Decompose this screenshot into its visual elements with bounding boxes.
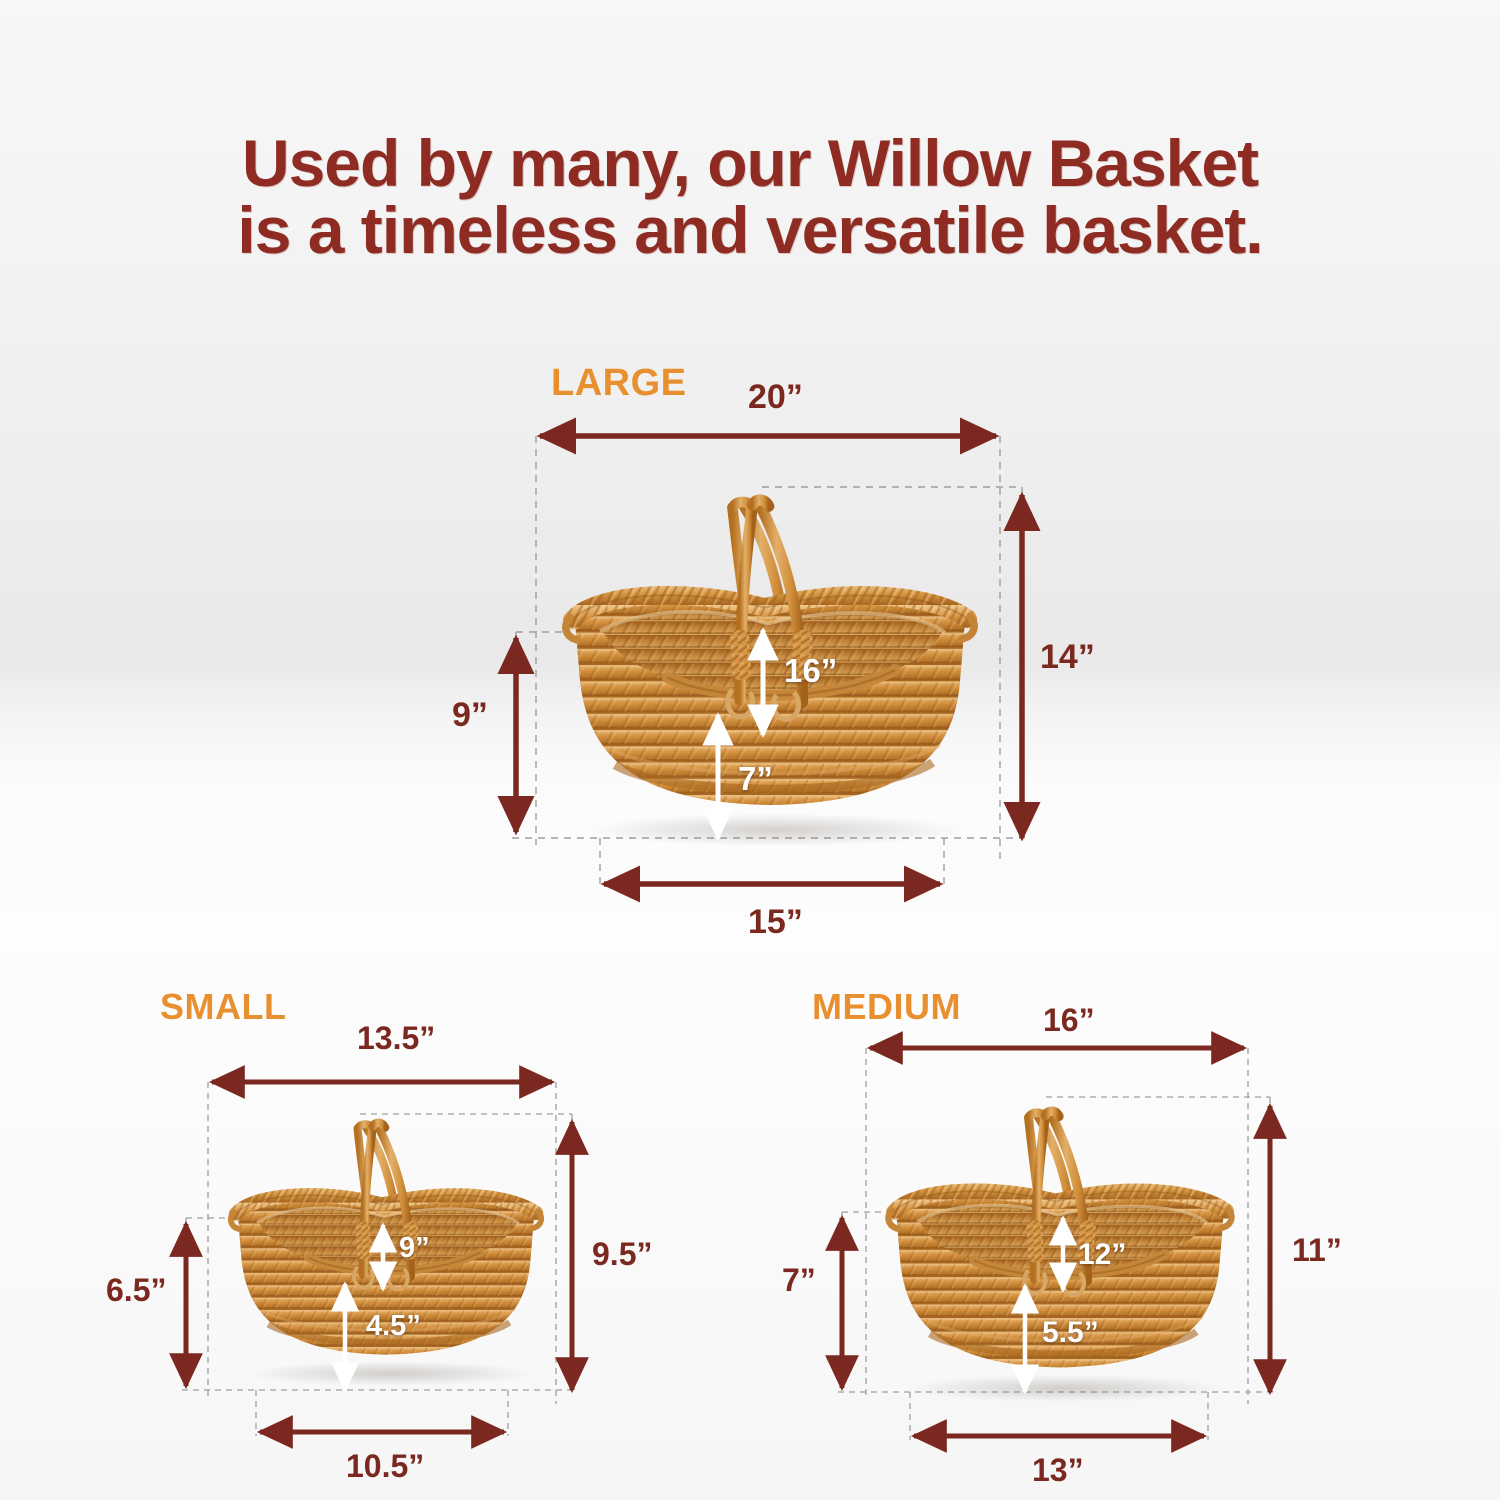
guide-lines-large [512, 436, 1024, 888]
dimension-small-outer-height: 9.5” [592, 1236, 652, 1273]
wicker-basket-illustration-small [231, 1123, 541, 1386]
guide-lines-medium [838, 1048, 1274, 1440]
page-title: Used by many, our Willow Basket is a tim… [0, 130, 1500, 265]
dimension-large-side-height: 9” [452, 696, 488, 735]
dimension-medium-inner-depth: 5.5” [1042, 1316, 1099, 1350]
dimension-large-outer-height: 14” [1040, 638, 1095, 677]
guide-lines-small [182, 1082, 576, 1436]
size-label-small: SMALL [160, 986, 286, 1028]
dimension-medium-handle-height: 12” [1078, 1238, 1126, 1272]
dimension-medium-outer-height: 11” [1292, 1232, 1342, 1269]
dimension-small-handle-height: 9” [399, 1232, 430, 1265]
size-label-medium: MEDIUM [812, 986, 961, 1028]
dimension-medium-base-width: 13” [1032, 1452, 1084, 1489]
dimension-small-inner-depth: 4.5” [366, 1310, 421, 1343]
dimension-large-base-width: 15” [748, 903, 803, 942]
basket-large-diagram [512, 436, 1024, 888]
dimension-medium-top-width: 16” [1043, 1002, 1095, 1039]
infographic-canvas: Used by many, our Willow Basket is a tim… [0, 0, 1500, 1500]
dimension-medium-side-height: 7” [782, 1262, 816, 1299]
title-line-1: Used by many, our Willow Basket [0, 130, 1500, 197]
size-label-large: LARGE [551, 362, 687, 405]
dimension-large-handle-height: 16” [784, 652, 837, 690]
dimension-small-top-width: 13.5” [357, 1020, 435, 1057]
wicker-basket-illustration-medium [888, 1111, 1231, 1402]
dimension-small-base-width: 10.5” [346, 1448, 424, 1485]
dimension-small-side-height: 6.5” [106, 1272, 166, 1309]
basket-medium-diagram [838, 1048, 1274, 1440]
title-line-2: is a timeless and versatile basket. [0, 197, 1500, 264]
dimension-large-inner-depth: 7” [738, 760, 773, 798]
basket-small-diagram [182, 1082, 576, 1436]
dimension-large-top-width: 20” [748, 378, 803, 417]
